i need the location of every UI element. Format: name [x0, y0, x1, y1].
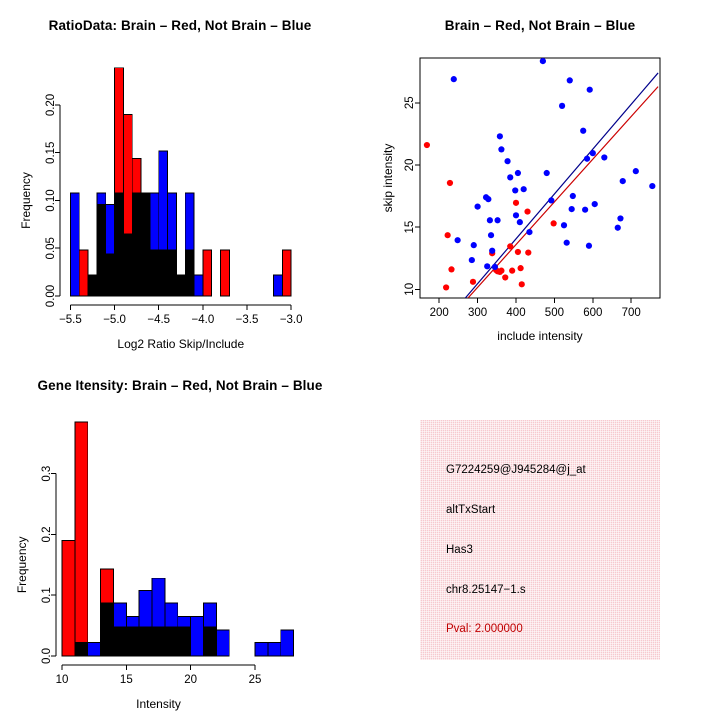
x-tick-label: 15 — [120, 674, 133, 686]
data-point — [471, 242, 477, 248]
data-point — [515, 249, 521, 255]
data-point — [451, 76, 457, 82]
data-point — [517, 219, 523, 225]
info-pval: Pval: 2.000000 — [446, 623, 523, 635]
y-tick-label: 0.3 — [41, 466, 53, 482]
x-tick-label: 600 — [583, 307, 602, 319]
x-tick-label: 300 — [468, 307, 487, 319]
data-point — [617, 215, 623, 221]
data-point — [519, 281, 525, 287]
data-point — [587, 87, 593, 93]
data-point — [512, 187, 518, 193]
data-points — [424, 58, 656, 291]
data-point — [504, 158, 510, 164]
data-point — [586, 243, 592, 249]
panel-gene-histogram: Gene Itensity: Brain – Red, Not Brain – … — [0, 360, 360, 720]
y-axis-title: skip intensity — [381, 144, 395, 213]
data-point — [633, 168, 639, 174]
data-point — [443, 284, 449, 290]
x-tick-label: 10 — [56, 674, 69, 686]
data-point — [544, 170, 550, 176]
x-tick-label: 200 — [430, 307, 449, 319]
y-tick-label: 0.15 — [45, 142, 57, 164]
data-point — [502, 274, 508, 280]
y-axis-title: Frequency — [15, 536, 29, 593]
data-point — [489, 248, 495, 254]
data-point — [513, 212, 519, 218]
x-tick-label: −5.0 — [103, 314, 126, 326]
x-tick-label: 400 — [506, 307, 525, 319]
x-tick-label: −3.5 — [236, 314, 259, 326]
data-point — [513, 200, 519, 206]
data-point — [569, 206, 575, 212]
data-point — [620, 178, 626, 184]
data-point — [601, 154, 607, 160]
data-point — [524, 208, 530, 214]
data-point — [498, 268, 504, 274]
y-axis-title: Frequency — [19, 172, 33, 229]
data-point — [470, 279, 476, 285]
y-tick-label: 25 — [404, 96, 416, 109]
data-point — [507, 243, 513, 249]
x-tick-label: 500 — [545, 307, 564, 319]
data-point — [487, 217, 493, 223]
x-tick-label: −5.5 — [59, 314, 82, 326]
x-axis-title: Log2 Ratio Skip/Include — [117, 337, 244, 351]
data-point — [448, 266, 454, 272]
panel-intensity-scatter: Brain – Red, Not Brain – Blue 2003004005… — [360, 0, 720, 360]
ratio-histogram-plot: −5.5−5.0−4.5−4.0−3.5−3.00.000.050.100.15… — [0, 0, 360, 360]
y-tick-label: 0.0 — [41, 648, 53, 664]
info-probe-id: G7224259@J945284@j_at — [446, 464, 586, 476]
data-point — [584, 156, 590, 162]
data-point — [507, 174, 513, 180]
data-point — [498, 146, 504, 152]
data-point — [469, 257, 475, 263]
data-point — [484, 263, 490, 269]
info-gene-symbol: Has3 — [446, 544, 473, 556]
data-point — [526, 229, 532, 235]
y-tick-label: 0.00 — [45, 285, 57, 307]
x-tick-label: −3.0 — [280, 314, 303, 326]
data-point — [455, 237, 461, 243]
y-tick-label: 20 — [404, 159, 416, 172]
data-point — [592, 201, 598, 207]
data-point — [540, 58, 546, 64]
data-point — [570, 193, 576, 199]
data-point — [564, 240, 570, 246]
data-point — [548, 197, 554, 203]
data-point — [447, 180, 453, 186]
x-tick-label: −4.0 — [192, 314, 215, 326]
y-tick-label: 0.10 — [45, 189, 57, 211]
panel-ratio-histogram: RatioData: Brain – Red, Not Brain – Blue… — [0, 0, 360, 360]
x-tick-label: 700 — [622, 307, 641, 319]
data-point — [488, 232, 494, 238]
data-point — [582, 207, 588, 213]
data-point — [485, 196, 491, 202]
data-point — [494, 217, 500, 223]
data-point — [559, 103, 565, 109]
x-tick-label: 20 — [184, 674, 197, 686]
info-locus: chr8.25147−1.s — [446, 584, 526, 596]
gene-histogram-plot: 101520250.00.10.20.3IntensityFrequency — [0, 360, 360, 720]
data-point — [551, 220, 557, 226]
y-tick-label: 15 — [404, 221, 416, 234]
x-axis-title: include intensity — [497, 329, 582, 343]
y-tick-label: 10 — [404, 283, 416, 296]
data-point — [492, 264, 498, 270]
data-point — [518, 265, 524, 271]
data-point — [445, 232, 451, 238]
data-point — [525, 250, 531, 256]
data-point — [580, 128, 586, 134]
data-point — [424, 142, 430, 148]
y-tick-label: 0.2 — [41, 526, 53, 542]
data-point — [509, 268, 515, 274]
y-tick-label: 0.20 — [45, 94, 57, 116]
data-point — [567, 77, 573, 83]
data-point — [497, 133, 503, 139]
hist-bars-brain — [79, 68, 291, 296]
data-point — [475, 204, 481, 210]
data-point — [649, 183, 655, 189]
info-box: G7224259@J945284@j_at altTxStart Has3 ch… — [420, 420, 660, 660]
x-axis-title: Intensity — [136, 697, 181, 711]
data-point — [561, 222, 567, 228]
data-point — [590, 150, 596, 156]
plot-canvas: RatioData: Brain – Red, Not Brain – Blue… — [0, 0, 720, 720]
panel-annotation-info: G7224259@J945284@j_at altTxStart Has3 ch… — [360, 360, 720, 720]
info-event-type: altTxStart — [446, 504, 495, 516]
y-tick-label: 0.05 — [45, 237, 57, 259]
x-tick-label: 25 — [249, 674, 262, 686]
plot-box — [420, 58, 660, 298]
data-point — [515, 170, 521, 176]
scatter-plot: 20030040050060070010152025include intens… — [360, 0, 720, 360]
y-tick-label: 0.1 — [41, 587, 53, 603]
data-point — [615, 225, 621, 231]
data-point — [521, 186, 527, 192]
x-tick-label: −4.5 — [147, 314, 170, 326]
